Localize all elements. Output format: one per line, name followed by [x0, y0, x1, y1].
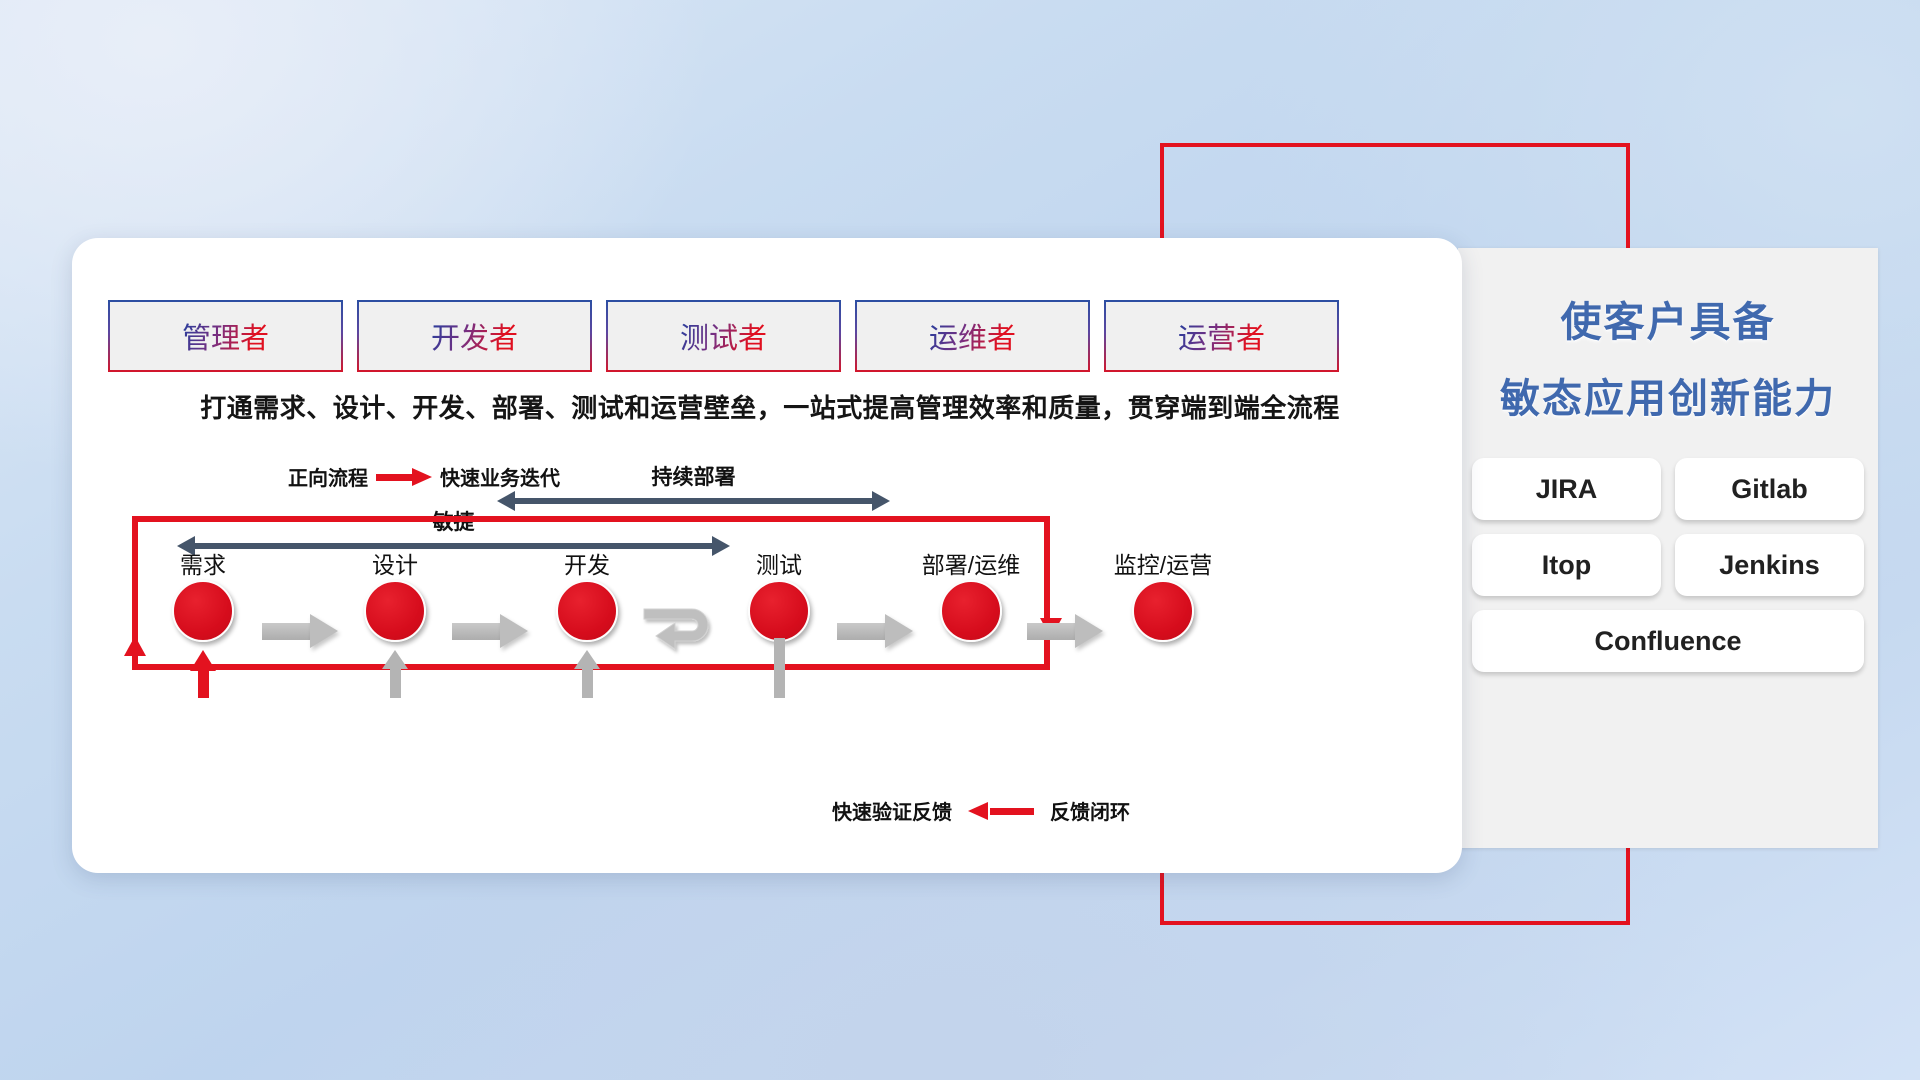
flow-node-dot — [172, 580, 234, 642]
span-deploy-label: 持续部署 — [497, 461, 890, 491]
arrow-right-red-icon — [376, 468, 432, 486]
slide-canvas: 使客户具备 敏态应用创新能力 JIRA Gitlab Itop Jenkins … — [0, 0, 1920, 1080]
feedback-stem-requirements — [198, 666, 209, 698]
feedback-stem-development — [582, 667, 593, 698]
role-box-developer[interactable]: 开发者 — [357, 300, 592, 372]
arrow-head-right-icon — [872, 491, 890, 511]
tool-chip-jenkins[interactable]: Jenkins — [1675, 534, 1864, 596]
role-label: 管理者 — [182, 315, 269, 357]
role-box-manager[interactable]: 管理者 — [108, 300, 343, 372]
feedback-stem-testing — [774, 638, 785, 698]
flow-node-design[interactable]: 设计 — [364, 580, 426, 642]
flow-node-label: 监控/运营 — [1114, 546, 1212, 580]
legend-feedback-loop: 快速验证反馈 反馈闭环 — [832, 796, 1130, 825]
role-label: 测试者 — [680, 315, 767, 357]
role-box-ops[interactable]: 运维者 — [855, 300, 1090, 372]
flow-node-label: 部署/运维 — [922, 546, 1020, 580]
role-box-tester[interactable]: 测试者 — [606, 300, 841, 372]
tool-chip-gitlab[interactable]: Gitlab — [1675, 458, 1864, 520]
flow-node-dot — [364, 580, 426, 642]
role-label: 运营者 — [1178, 315, 1265, 357]
arrow-left-red-icon — [968, 802, 1034, 820]
flow-arrow-1-icon — [262, 614, 338, 648]
process-flow: 需求 设计 开发 测试 部署/运维 监控/运营 — [104, 568, 1134, 708]
flow-arrow-2-icon — [452, 614, 528, 648]
card-description: 打通需求、设计、开发、部署、测试和运营壁垒，一站式提高管理效率和质量，贯穿端到端… — [110, 388, 1430, 425]
right-panel-title-line1: 使客户具备 — [1458, 288, 1878, 348]
right-panel: 使客户具备 敏态应用创新能力 JIRA Gitlab Itop Jenkins … — [1458, 248, 1878, 848]
flow-node-development[interactable]: 开发 — [556, 580, 618, 642]
tool-chip-jira[interactable]: JIRA — [1472, 458, 1661, 520]
flow-node-testing[interactable]: 测试 — [748, 580, 810, 642]
arrow-shaft — [513, 498, 874, 504]
main-card: 管理者 开发者 测试者 运维者 运营者 打通需求、设计、开发、部署、测试和运营壁… — [72, 238, 1462, 873]
flow-node-label: 开发 — [564, 546, 610, 580]
right-panel-title-line2: 敏态应用创新能力 — [1458, 366, 1878, 424]
flow-node-label: 设计 — [372, 546, 418, 580]
flow-node-monitor-operate[interactable]: 监控/运营 — [1132, 580, 1194, 642]
flow-node-dot — [940, 580, 1002, 642]
flow-arrow-5-icon — [1027, 614, 1103, 648]
flow-node-requirements[interactable]: 需求 — [172, 580, 234, 642]
tool-chip-itop[interactable]: Itop — [1472, 534, 1661, 596]
flow-loop-arrow-icon — [642, 600, 738, 666]
feedback-stem-design — [390, 667, 401, 698]
tool-chip-confluence[interactable]: Confluence — [1472, 610, 1864, 672]
flow-arrow-4-icon — [837, 614, 913, 648]
role-box-row: 管理者 开发者 测试者 运维者 运营者 — [108, 300, 1339, 372]
flow-node-label: 测试 — [756, 546, 802, 580]
legend-feedback-left-label: 快速验证反馈 — [832, 796, 952, 825]
flow-node-deploy-ops[interactable]: 部署/运维 — [940, 580, 1002, 642]
legend-feedback-right-label: 反馈闭环 — [1050, 796, 1130, 825]
flow-node-dot — [556, 580, 618, 642]
role-label: 开发者 — [431, 315, 518, 357]
flow-node-label: 需求 — [180, 546, 226, 580]
role-label: 运维者 — [929, 315, 1016, 357]
flow-node-dot — [1132, 580, 1194, 642]
legend-forward-left-label: 正向流程 — [288, 462, 368, 491]
role-box-operator[interactable]: 运营者 — [1104, 300, 1339, 372]
flow-node-dot — [748, 580, 810, 642]
tool-list: JIRA Gitlab Itop Jenkins Confluence — [1458, 458, 1878, 672]
